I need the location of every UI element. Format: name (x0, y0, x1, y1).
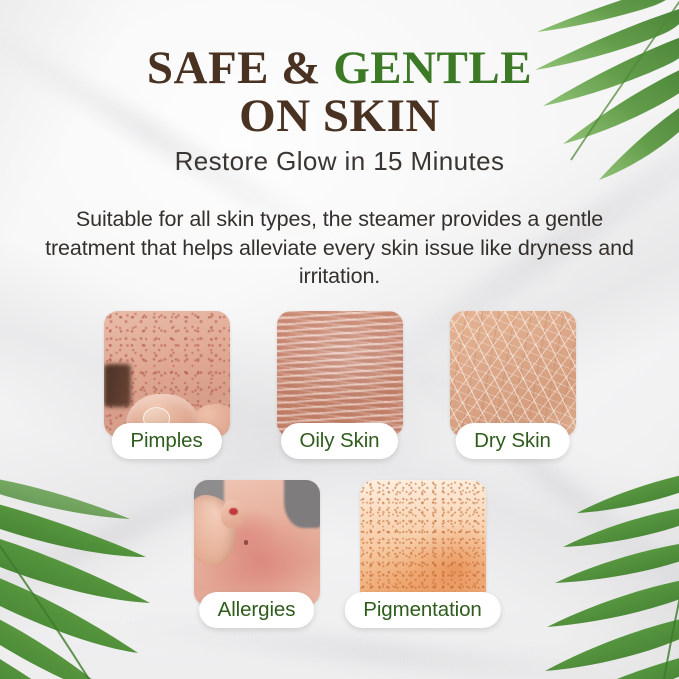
card-label-oily-skin: Oily Skin (281, 423, 399, 459)
body-paragraph: Suitable for all skin types, the steamer… (42, 205, 637, 291)
pigmentation-skin-photo (360, 480, 486, 606)
oily-skin-photo (277, 311, 403, 437)
acne-skin-photo (104, 311, 230, 437)
skin-concern-row-2: Allergies Pigmentation (0, 480, 679, 606)
headline-line1-green: GENTLE (333, 42, 532, 94)
skin-concern-card-pimples[interactable]: Pimples (104, 311, 230, 437)
headline-line2: ON SKIN (0, 94, 679, 140)
page-title: SAFE & GENTLE ON SKIN (0, 46, 679, 139)
card-label-allergies: Allergies (199, 592, 315, 628)
card-label-dry-skin: Dry Skin (455, 423, 570, 459)
page-subtitle: Restore Glow in 15 Minutes (0, 146, 679, 177)
skin-concern-row-1: Pimples Oily Skin Dry Skin (0, 311, 679, 437)
skin-concern-card-pigmentation[interactable]: Pigmentation (360, 480, 486, 606)
allergy-rash-photo (194, 480, 320, 606)
card-label-pimples: Pimples (111, 423, 221, 459)
skin-concern-card-oily-skin[interactable]: Oily Skin (277, 311, 403, 437)
skin-concern-card-allergies[interactable]: Allergies (194, 480, 320, 606)
headline-line1-brown: SAFE & (147, 42, 333, 94)
dry-skin-photo (450, 311, 576, 437)
card-label-pigmentation: Pigmentation (344, 592, 500, 628)
skin-concern-card-dry-skin[interactable]: Dry Skin (450, 311, 576, 437)
